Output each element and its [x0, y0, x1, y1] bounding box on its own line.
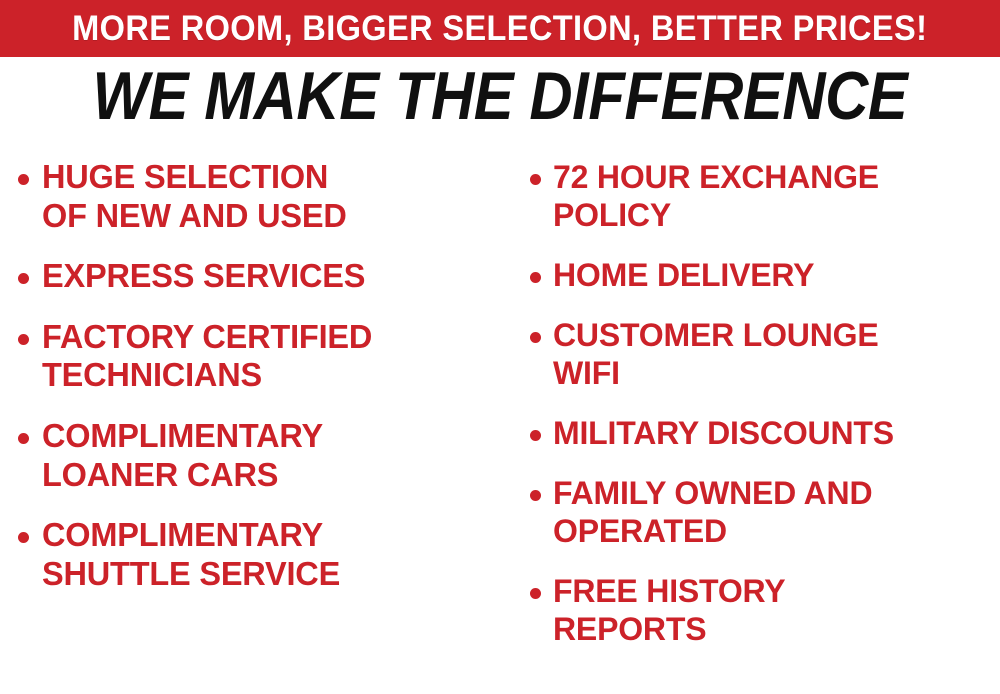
list-item-label: 72 HOUR EXCHANGE POLICY	[553, 158, 879, 234]
list-item: FREE HISTORY REPORTS	[530, 572, 1000, 648]
list-item-label: CUSTOMER LOUNGE WIFI	[553, 316, 878, 392]
bullet-dot-icon	[18, 433, 29, 444]
bullet-dot-icon	[530, 332, 541, 343]
benefits-columns: HUGE SELECTION OF NEW AND USED EXPRESS S…	[0, 158, 1000, 694]
list-item-label: FAMILY OWNED AND OPERATED	[553, 474, 872, 550]
bullet-dot-icon	[18, 273, 29, 284]
headline-block: WE MAKE THE DIFFERENCE	[0, 62, 1000, 131]
list-item-label: HUGE SELECTION OF NEW AND USED	[42, 158, 347, 235]
bullet-dot-icon	[530, 272, 541, 283]
list-item: MILITARY DISCOUNTS	[530, 414, 1000, 452]
list-item-label: EXPRESS SERVICES	[42, 257, 365, 296]
bullet-dot-icon	[18, 174, 29, 185]
bullet-dot-icon	[530, 588, 541, 599]
bullet-dot-icon	[530, 490, 541, 501]
list-item: FAMILY OWNED AND OPERATED	[530, 474, 1000, 550]
list-item: 72 HOUR EXCHANGE POLICY	[530, 158, 1000, 234]
bullet-dot-icon	[530, 430, 541, 441]
list-item-label: COMPLIMENTARY SHUTTLE SERVICE	[42, 516, 340, 593]
benefits-column-right: 72 HOUR EXCHANGE POLICY HOME DELIVERY CU…	[505, 158, 1000, 694]
list-item-label: FREE HISTORY REPORTS	[553, 572, 785, 648]
bullet-dot-icon	[530, 174, 541, 185]
bullet-dot-icon	[18, 532, 29, 543]
list-item-label: HOME DELIVERY	[553, 256, 814, 294]
benefits-column-left: HUGE SELECTION OF NEW AND USED EXPRESS S…	[0, 158, 505, 694]
top-banner: MORE ROOM, BIGGER SELECTION, BETTER PRIC…	[0, 0, 1000, 57]
dealership-benefits-poster: MORE ROOM, BIGGER SELECTION, BETTER PRIC…	[0, 0, 1000, 694]
list-item-label: COMPLIMENTARY LOANER CARS	[42, 417, 323, 494]
list-item: EXPRESS SERVICES	[18, 257, 505, 296]
list-item-label: FACTORY CERTIFIED TECHNICIANS	[42, 318, 372, 395]
banner-headline: MORE ROOM, BIGGER SELECTION, BETTER PRIC…	[72, 11, 927, 46]
list-item: COMPLIMENTARY LOANER CARS	[18, 417, 505, 494]
bullet-dot-icon	[18, 334, 29, 345]
list-item: CUSTOMER LOUNGE WIFI	[530, 316, 1000, 392]
list-item-label: MILITARY DISCOUNTS	[553, 414, 894, 452]
list-item: HOME DELIVERY	[530, 256, 1000, 294]
list-item: FACTORY CERTIFIED TECHNICIANS	[18, 318, 505, 395]
list-item: HUGE SELECTION OF NEW AND USED	[18, 158, 505, 235]
page-title: WE MAKE THE DIFFERENCE	[93, 62, 908, 131]
list-item: COMPLIMENTARY SHUTTLE SERVICE	[18, 516, 505, 593]
